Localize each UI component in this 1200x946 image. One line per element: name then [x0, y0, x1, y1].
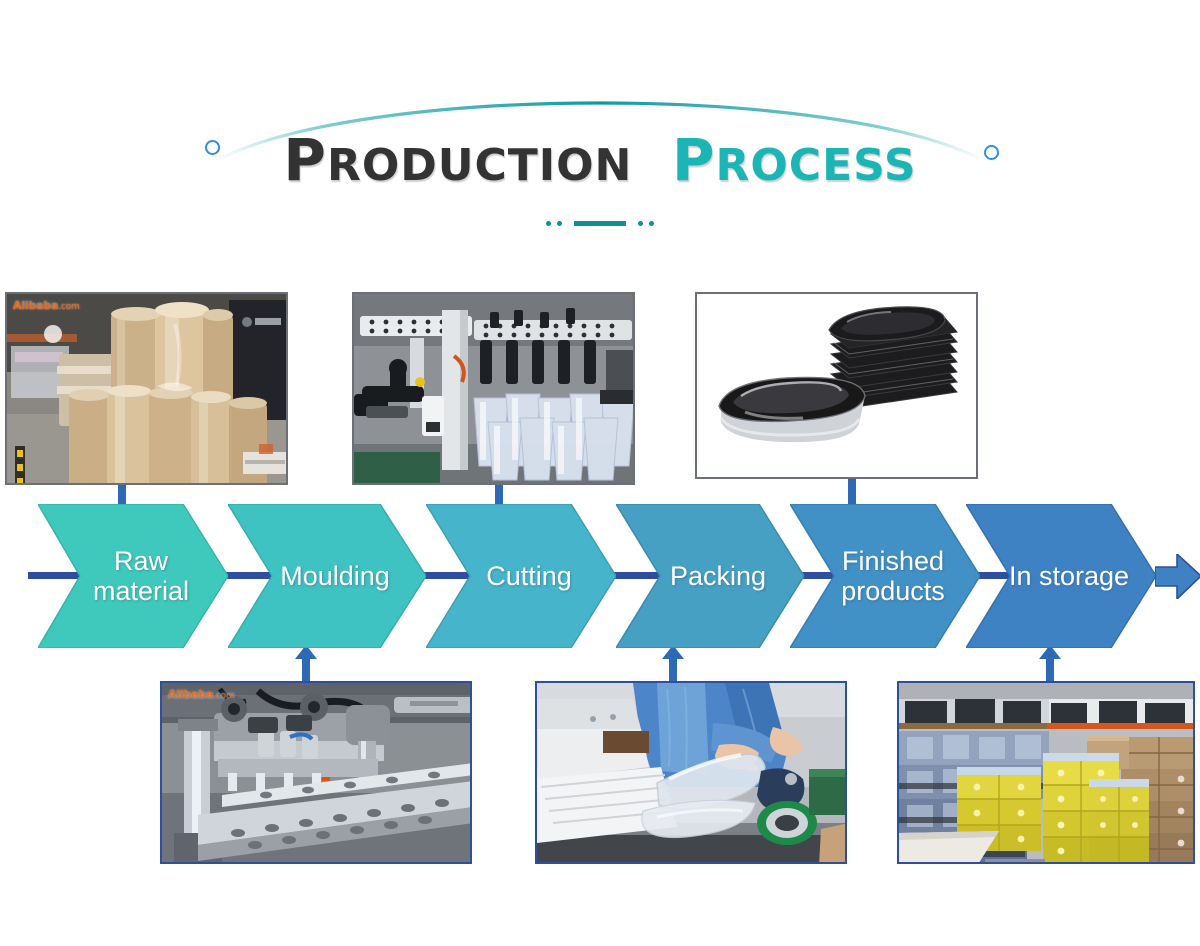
title-underline-decoration	[0, 213, 1200, 231]
flow-step-label: Packing	[648, 561, 772, 591]
raw-material-photo: Alibaba.com	[5, 292, 288, 485]
finished-products-photo	[695, 292, 978, 479]
underline-dot	[638, 221, 643, 226]
title-word-process: PROCESS	[672, 130, 917, 193]
moulding-photo	[352, 292, 635, 485]
underline-bar	[574, 221, 626, 226]
page-title: PRODUCTION PROCESS	[0, 126, 1200, 194]
flow-step-label: In storage	[987, 561, 1135, 591]
arrow-up-in-storage	[1038, 645, 1062, 683]
process-flow: Raw material Moulding Cutting Packing	[0, 504, 1200, 648]
cutting-photo: Alibaba.com	[160, 681, 472, 864]
production-process-infographic: PRODUCTION PROCESS	[0, 0, 1200, 946]
flow-step-in-storage[interactable]: In storage	[966, 504, 1156, 648]
alibaba-watermark: Alibaba.com	[168, 688, 235, 701]
arrow-up-packing	[661, 645, 685, 683]
underline-dot	[546, 221, 551, 226]
alibaba-watermark: Alibaba.com	[13, 299, 80, 312]
flow-step-label: Raw material	[71, 546, 195, 606]
flow-step-moulding[interactable]: Moulding	[228, 504, 426, 648]
flow-step-label: Moulding	[258, 561, 396, 591]
packing-photo	[535, 681, 847, 864]
flow-step-cutting[interactable]: Cutting	[426, 504, 616, 648]
storage-photo	[897, 681, 1195, 864]
flow-end-arrowhead	[1155, 554, 1200, 599]
flow-step-label: Finished products	[819, 546, 951, 606]
flow-step-label: Cutting	[464, 561, 578, 591]
underline-dot	[649, 221, 654, 226]
underline-dot	[557, 221, 562, 226]
flow-step-finished-products[interactable]: Finished products	[790, 504, 980, 648]
arrow-up-cutting	[294, 645, 318, 683]
flow-step-raw-material[interactable]: Raw material	[38, 504, 228, 648]
title-word-production: PRODUCTION	[283, 130, 632, 193]
flow-step-packing[interactable]: Packing	[616, 504, 804, 648]
